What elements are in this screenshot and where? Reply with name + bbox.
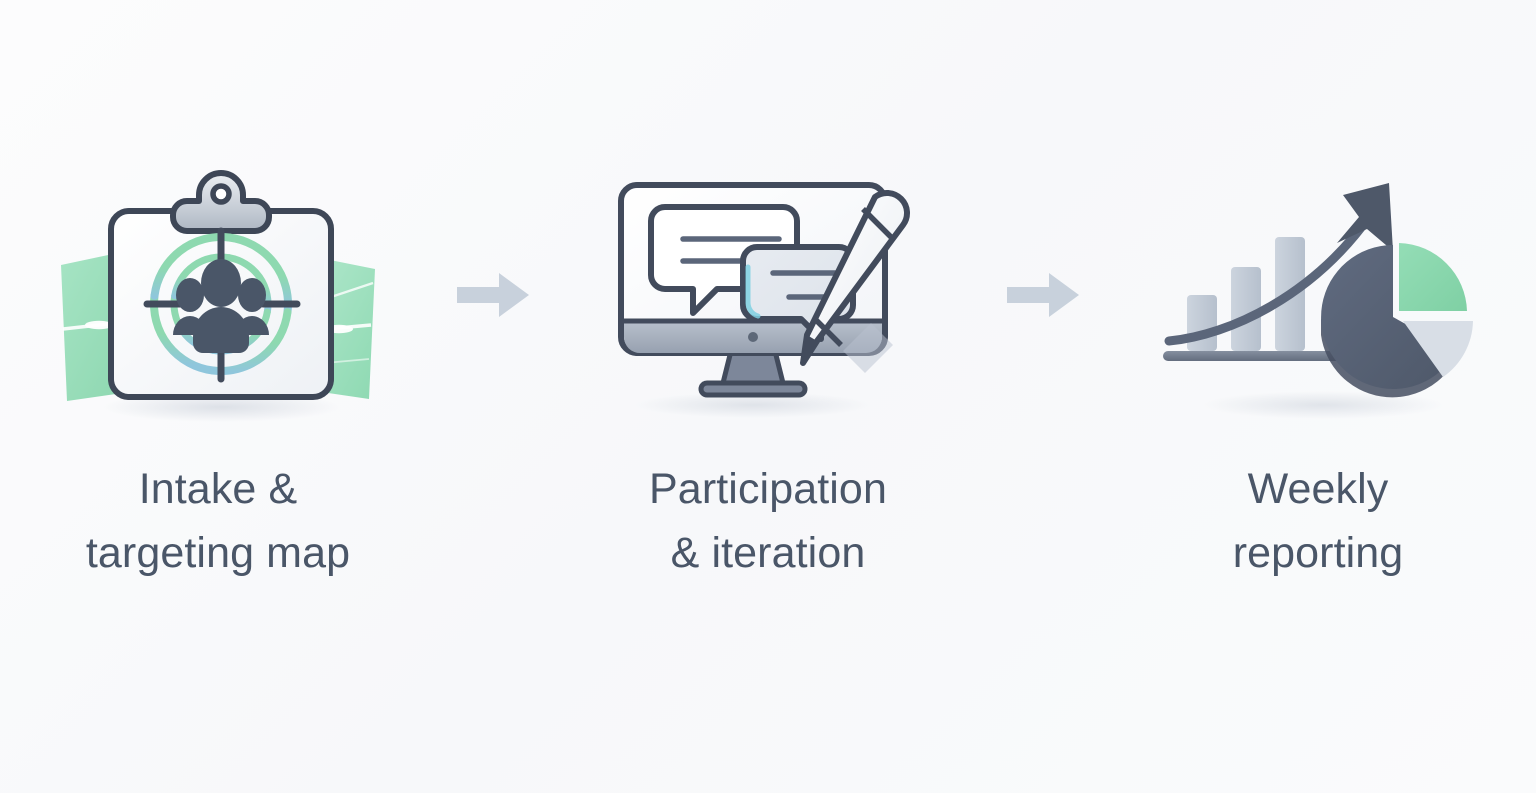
clipboard-target-audience-icon [38,150,398,440]
pie-chart [1321,243,1473,397]
connector-arrow-1 [428,150,558,440]
growth-chart-pie-icon [1138,150,1498,440]
caption-line-1: Intake & [86,458,350,522]
caption-line-1: Weekly [1233,458,1404,522]
monitor-base [701,383,805,395]
arrow-right-icon [457,273,529,317]
caption-line-2: targeting map [86,522,350,586]
monitor-power-dot [748,332,758,342]
caption-line-2: reporting [1233,522,1404,586]
step-caption-2: Participation & iteration [649,458,887,585]
connector-arrow-2 [978,150,1108,440]
process-step-1: Intake & targeting map [8,150,428,585]
bar-1 [1187,295,1217,351]
chart-baseline [1163,351,1343,361]
process-flow-diagram: Intake & targeting map [0,0,1536,793]
clipboard-clip [173,173,269,231]
monitor-chat-pencil-icon [588,150,948,440]
step-caption-1: Intake & targeting map [86,458,350,585]
process-step-2: Participation & iteration [558,150,978,585]
bar-2 [1231,267,1261,351]
caption-line-1: Participation [649,458,887,522]
pie-slice-secondary [1399,243,1467,311]
caption-line-2: & iteration [649,522,887,586]
process-step-3: Weekly reporting [1108,150,1528,585]
step-caption-3: Weekly reporting [1233,458,1404,585]
arrow-right-icon [1007,273,1079,317]
